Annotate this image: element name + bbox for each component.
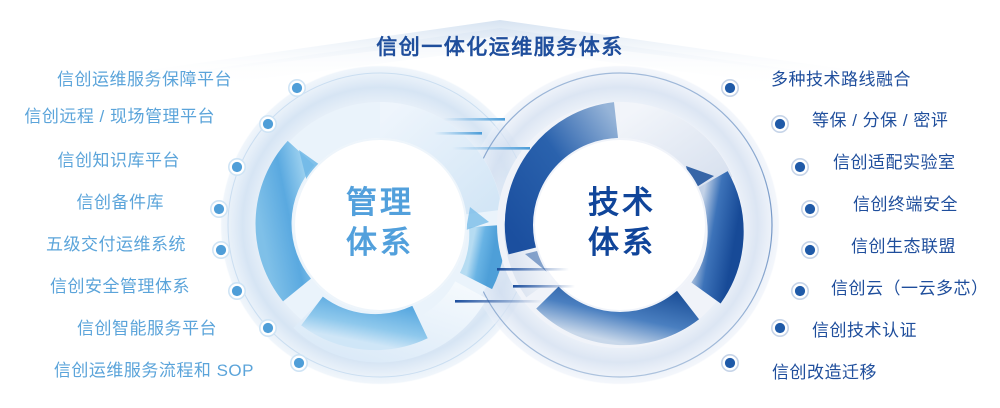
- left-item-label[interactable]: 信创运维服务保障平台: [57, 71, 232, 88]
- left-connector-dot[interactable]: [214, 204, 224, 214]
- infographic-root: 信创一体化运维服务体系 管理 体系 技术 体系 信创运维服务保障平台信创远程 /…: [0, 0, 1000, 408]
- right-connector-dot[interactable]: [795, 162, 805, 172]
- right-connector-dot[interactable]: [775, 119, 785, 129]
- hub-right-line2: 体系: [527, 223, 717, 263]
- right-item-label[interactable]: 信创终端安全: [853, 196, 958, 213]
- left-connector-dot[interactable]: [232, 286, 242, 296]
- left-item-label[interactable]: 信创备件库: [77, 194, 165, 211]
- hub-left-line1: 管理: [285, 183, 475, 223]
- right-connector-dot[interactable]: [795, 286, 805, 296]
- right-item-label[interactable]: 信创技术认证: [812, 322, 917, 339]
- left-connector-dot[interactable]: [294, 358, 304, 368]
- left-item-label[interactable]: 信创安全管理体系: [50, 278, 190, 295]
- hub-left-label: 管理 体系: [285, 183, 475, 262]
- hub-right-label: 技术 体系: [527, 183, 717, 262]
- right-item-label[interactable]: 信创适配实验室: [833, 154, 956, 171]
- right-connector-dot[interactable]: [725, 358, 735, 368]
- hub-left-line2: 体系: [285, 223, 475, 263]
- left-connector-dot[interactable]: [216, 245, 226, 255]
- right-connector-dot[interactable]: [805, 204, 815, 214]
- right-item-label[interactable]: 信创改造迁移: [772, 364, 877, 381]
- right-connector-dot[interactable]: [775, 323, 785, 333]
- right-item-label[interactable]: 等保 / 分保 / 密评: [812, 112, 948, 129]
- page-title: 信创一体化运维服务体系: [0, 31, 1000, 61]
- left-connector-dot[interactable]: [263, 119, 273, 129]
- right-item-label[interactable]: 信创云（一云多芯）: [831, 280, 989, 297]
- left-item-label[interactable]: 信创知识库平台: [58, 152, 181, 169]
- left-item-label[interactable]: 信创运维服务流程和 SOP: [54, 362, 254, 379]
- left-connector-dot[interactable]: [232, 162, 242, 172]
- right-item-label[interactable]: 多种技术路线融合: [771, 71, 911, 88]
- right-connector-dot[interactable]: [805, 245, 815, 255]
- left-connector-dot[interactable]: [292, 83, 302, 93]
- left-item-label[interactable]: 五级交付运维系统: [46, 236, 186, 253]
- right-item-label[interactable]: 信创生态联盟: [851, 238, 956, 255]
- left-item-label[interactable]: 信创智能服务平台: [77, 320, 217, 337]
- left-connector-dot[interactable]: [263, 323, 273, 333]
- left-item-label[interactable]: 信创远程 / 现场管理平台: [24, 108, 215, 125]
- hub-right-line1: 技术: [527, 183, 717, 223]
- right-connector-dot[interactable]: [725, 83, 735, 93]
